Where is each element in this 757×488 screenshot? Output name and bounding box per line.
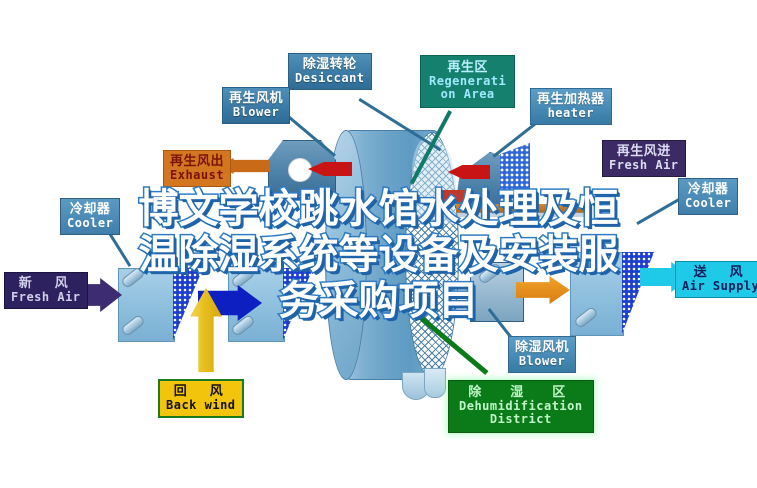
label-regeneration-blower[interactable]: 再生风机 Blower bbox=[222, 87, 290, 124]
filter-mesh-right bbox=[622, 252, 654, 334]
regen-red-box bbox=[440, 190, 470, 202]
label-cooler-left-en: Cooler bbox=[67, 217, 113, 230]
label-regeneration-air-inlet-en: Fresh Air bbox=[609, 159, 679, 172]
regeneration-blower-inlet bbox=[288, 158, 312, 182]
label-air-supply[interactable]: 送 风 Air Supply bbox=[675, 261, 757, 298]
label-fresh-air-en: Fresh Air bbox=[11, 291, 81, 304]
label-regeneration-area-en2: on Area bbox=[429, 88, 506, 101]
label-cooler-right-cn: 冷却器 bbox=[685, 182, 731, 197]
label-dehum-blower-cn: 除湿风机 bbox=[515, 340, 569, 355]
label-exhaust[interactable]: 再生风出 Exhaust bbox=[163, 150, 231, 187]
label-regeneration-blower-cn: 再生风机 bbox=[229, 91, 283, 106]
label-exhaust-en: Exhaust bbox=[170, 169, 224, 182]
label-exhaust-cn: 再生风出 bbox=[170, 154, 224, 169]
label-back-wind-en: Back wind bbox=[166, 399, 236, 412]
label-cooler-left-cn: 冷却器 bbox=[67, 202, 113, 217]
supply-fan-arrow bbox=[516, 276, 570, 304]
label-cooler-right[interactable]: 冷却器 Cooler bbox=[678, 178, 738, 215]
label-cooler-right-en: Cooler bbox=[685, 197, 731, 210]
label-dehum-blower-en: Blower bbox=[515, 355, 569, 368]
label-desiccant-wheel[interactable]: 除湿转轮 Desiccant bbox=[288, 53, 372, 90]
label-fresh-air[interactable]: 新 风 Fresh Air bbox=[4, 272, 88, 309]
label-dehumidification-district[interactable]: 除 湿 区 Dehumidification District bbox=[448, 380, 594, 433]
regeneration-sector bbox=[412, 136, 456, 224]
label-regeneration-heater[interactable]: 再生加热器 heater bbox=[530, 88, 612, 125]
label-regeneration-area-en1: Regenerati bbox=[429, 75, 506, 88]
heater-base-shadow bbox=[456, 212, 588, 217]
label-back-wind[interactable]: 回 风 Back wind bbox=[158, 379, 244, 418]
label-regeneration-heater-en: heater bbox=[537, 107, 605, 120]
rotor-drain-2 bbox=[424, 368, 446, 398]
filter-mesh-mid bbox=[283, 268, 313, 340]
label-fresh-air-cn: 新 风 bbox=[11, 276, 81, 291]
diagram-canvas: XT 除湿转轮 Desiccant bbox=[0, 0, 757, 488]
label-regeneration-air-inlet[interactable]: 再生风进 Fresh Air bbox=[602, 140, 686, 177]
label-dehum-district-cn: 除 湿 区 bbox=[459, 385, 583, 400]
label-back-wind-cn: 回 风 bbox=[166, 384, 236, 399]
label-dehum-district-en2: District bbox=[459, 413, 583, 426]
label-regeneration-blower-en: Blower bbox=[229, 106, 283, 119]
label-regeneration-area-cn: 再生区 bbox=[429, 60, 506, 75]
regeneration-heater-coil bbox=[500, 143, 530, 205]
label-regeneration-air-inlet-cn: 再生风进 bbox=[609, 144, 679, 159]
label-dehum-district-en1: Dehumidification bbox=[459, 400, 583, 413]
label-desiccant-wheel-cn: 除湿转轮 bbox=[295, 57, 365, 72]
rotor-watermark: XT bbox=[372, 300, 396, 318]
label-air-supply-cn: 送 风 bbox=[682, 265, 757, 280]
label-regeneration-heater-cn: 再生加热器 bbox=[537, 92, 605, 107]
label-regeneration-area[interactable]: 再生区 Regenerati on Area bbox=[420, 55, 515, 108]
label-cooler-left[interactable]: 冷却器 Cooler bbox=[60, 198, 120, 235]
label-air-supply-en: Air Supply bbox=[682, 280, 757, 293]
label-desiccant-wheel-en: Desiccant bbox=[295, 72, 365, 85]
label-dehumidification-blower[interactable]: 除湿风机 Blower bbox=[508, 336, 576, 373]
